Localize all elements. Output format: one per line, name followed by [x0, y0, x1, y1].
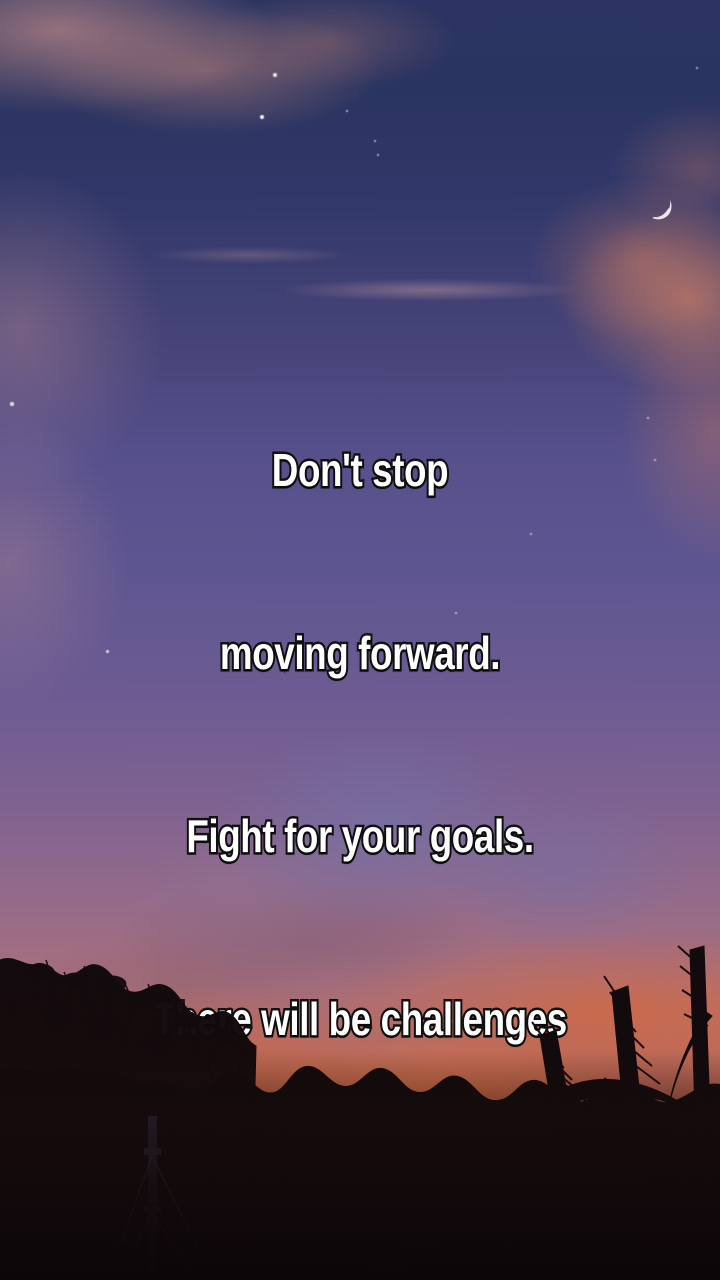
wallpaper-canvas: Don't stop moving forward. Fight for you…: [0, 0, 720, 1280]
quote-line: Fight for your goals.: [72, 806, 648, 867]
quote-line: moving forward.: [72, 623, 648, 684]
star: [377, 154, 379, 156]
star: [346, 110, 349, 113]
star: [696, 67, 699, 70]
star: [654, 459, 656, 461]
star: [260, 115, 265, 120]
banana-leaves: [172, 1101, 284, 1280]
foreground-silhouette: [0, 920, 720, 1280]
star: [10, 402, 13, 405]
star: [374, 140, 376, 142]
quote-line: Don't stop: [72, 440, 648, 501]
crescent-moon-icon: [648, 198, 678, 224]
star: [273, 73, 277, 77]
